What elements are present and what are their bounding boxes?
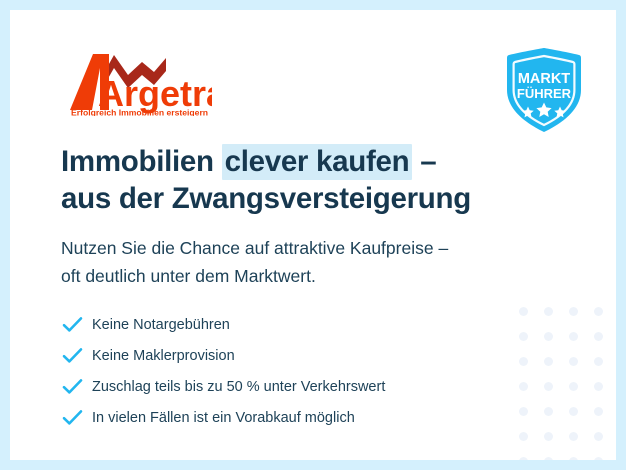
dot <box>594 407 603 416</box>
promo-card: Argetra Erfolgreich Immobilien ersteiger… <box>10 10 616 460</box>
dot <box>569 382 578 391</box>
dot <box>544 457 553 460</box>
headline-line-2: aus der Zwangsversteigerung <box>61 180 531 217</box>
dot <box>544 332 553 341</box>
dot <box>519 332 528 341</box>
dot <box>519 457 528 460</box>
list-item-label: Keine Notargebühren <box>92 316 230 334</box>
dot <box>569 407 578 416</box>
dot <box>569 457 578 460</box>
dot <box>594 432 603 441</box>
page-title: Immobilien clever kaufen – aus der Zwang… <box>61 143 531 217</box>
list-item: In vielen Fällen ist ein Vorabkauf mögli… <box>62 402 502 433</box>
list-item: Keine Maklerprovision <box>62 340 502 371</box>
subheadline: Nutzen Sie die Chance auf attraktive Kau… <box>61 234 541 290</box>
list-item-label: Keine Maklerprovision <box>92 347 235 365</box>
list-item: Keine Notargebühren <box>62 309 502 340</box>
subheadline-line-2: oft deutlich unter dem Marktwert. <box>61 262 541 290</box>
headline-part-before: Immobilien <box>61 145 222 178</box>
check-icon <box>62 378 92 395</box>
list-item: Zuschlag teils bis zu 50 % unter Verkehr… <box>62 371 502 402</box>
dot <box>569 432 578 441</box>
list-item-label: In vielen Fällen ist ein Vorabkauf mögli… <box>92 409 355 427</box>
dot <box>519 307 528 316</box>
dot <box>569 332 578 341</box>
benefits-list: Keine Notargebühren Keine Maklerprovisio… <box>62 309 502 433</box>
dot <box>569 357 578 366</box>
check-icon <box>62 409 92 426</box>
dot <box>519 382 528 391</box>
headline-highlight: clever kaufen <box>222 144 413 180</box>
promo-banner: Argetra Erfolgreich Immobilien ersteiger… <box>0 0 626 470</box>
dot <box>594 357 603 366</box>
badge-line2: FÜHRER <box>517 86 572 101</box>
dot <box>519 407 528 416</box>
headline-line-1: Immobilien clever kaufen – <box>61 143 531 180</box>
list-item-label: Zuschlag teils bis zu 50 % unter Verkehr… <box>92 378 385 396</box>
subheadline-line-1: Nutzen Sie die Chance auf attraktive Kau… <box>61 234 541 262</box>
dot <box>594 457 603 460</box>
dot <box>544 307 553 316</box>
badge-line1: MARKT <box>518 71 570 87</box>
dot-grid-decoration <box>519 307 616 460</box>
dot <box>594 307 603 316</box>
market-leader-badge: MARKT FÜHRER <box>499 46 589 134</box>
headline-part-after: – <box>412 145 436 178</box>
check-icon <box>62 316 92 333</box>
dot <box>569 307 578 316</box>
dot <box>544 382 553 391</box>
dot <box>544 407 553 416</box>
logo-tagline: Erfolgreich Immobilien ersteigern <box>71 108 208 117</box>
argetra-logo[interactable]: Argetra Erfolgreich Immobilien ersteiger… <box>62 48 212 116</box>
dot <box>519 357 528 366</box>
dot <box>594 332 603 341</box>
check-icon <box>62 347 92 364</box>
dot <box>519 432 528 441</box>
dot <box>594 382 603 391</box>
dot <box>544 432 553 441</box>
dot <box>544 357 553 366</box>
